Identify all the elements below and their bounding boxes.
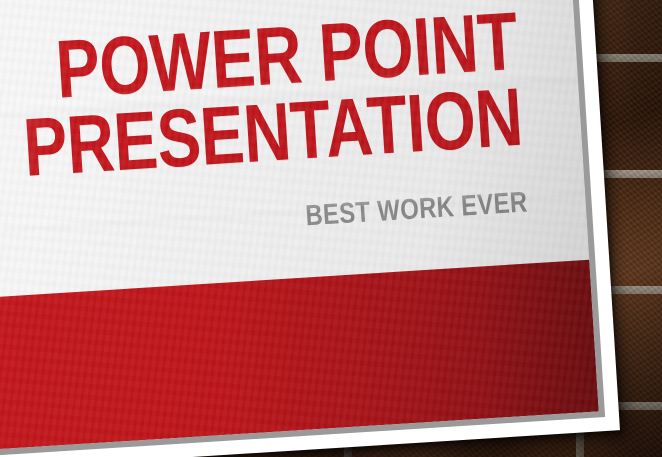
slide-text-block: POWER POINT PRESENTATION BEST WORK EVER <box>0 4 529 268</box>
red-band-bottom <box>0 260 599 457</box>
slide-frame-border: POWER POINT PRESENTATION BEST WORK EVER <box>0 0 605 457</box>
poster-mockup-scene: POWER POINT PRESENTATION BEST WORK EVER <box>0 0 662 457</box>
poster-sheet: POWER POINT PRESENTATION BEST WORK EVER <box>0 0 620 457</box>
slide-subtitle: BEST WORK EVER <box>0 186 529 259</box>
presentation-slide: POWER POINT PRESENTATION BEST WORK EVER <box>0 0 599 457</box>
